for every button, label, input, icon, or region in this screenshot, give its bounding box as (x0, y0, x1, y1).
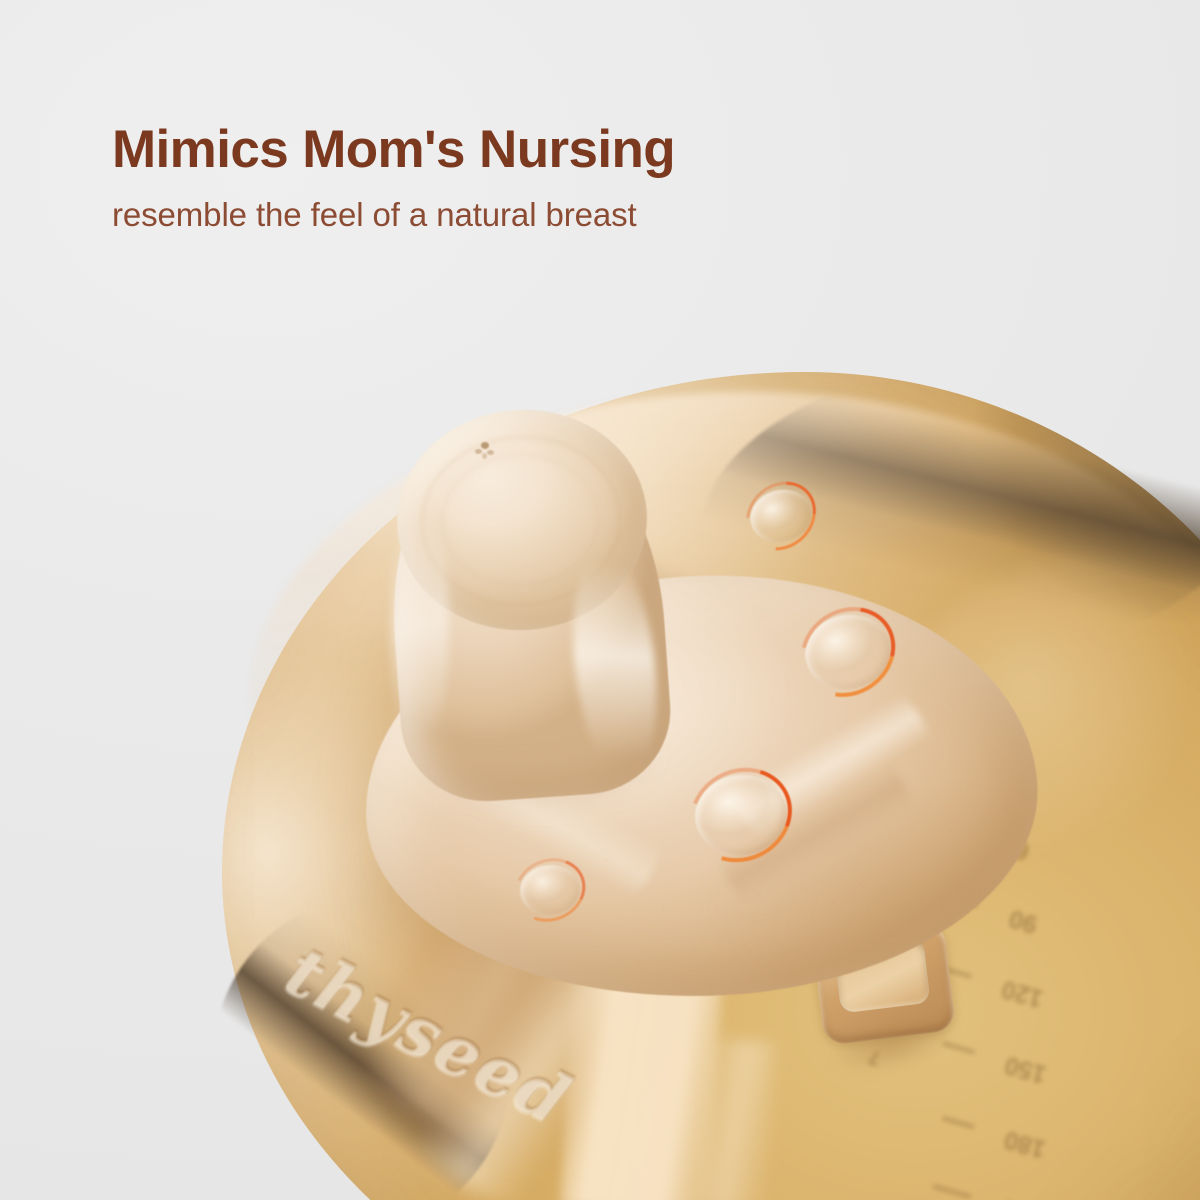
silicone-teat (245, 400, 965, 960)
teat-stalk-left-highlight (391, 496, 449, 756)
product-hero-image: 210 180 150 120 90 60 7 6 5 4 3 (0, 0, 1200, 1200)
teat-nub-middle-right (799, 608, 897, 696)
teat-nub-accent-arc-icon (732, 467, 830, 564)
teat-nub-bottom-left (518, 863, 581, 917)
teat-nub-lower-center (691, 770, 791, 859)
page-title: Mimics Mom's Nursing (112, 122, 675, 178)
teat-nub-upper-right (745, 483, 818, 548)
bottle-highlight-stripe-secondary (694, 1038, 776, 1200)
page-subtitle: resemble the feel of a natural breast (112, 196, 675, 234)
marketing-copy: Mimics Mom's Nursing resemble the feel o… (112, 122, 675, 234)
teat-feeding-hole (473, 438, 499, 460)
